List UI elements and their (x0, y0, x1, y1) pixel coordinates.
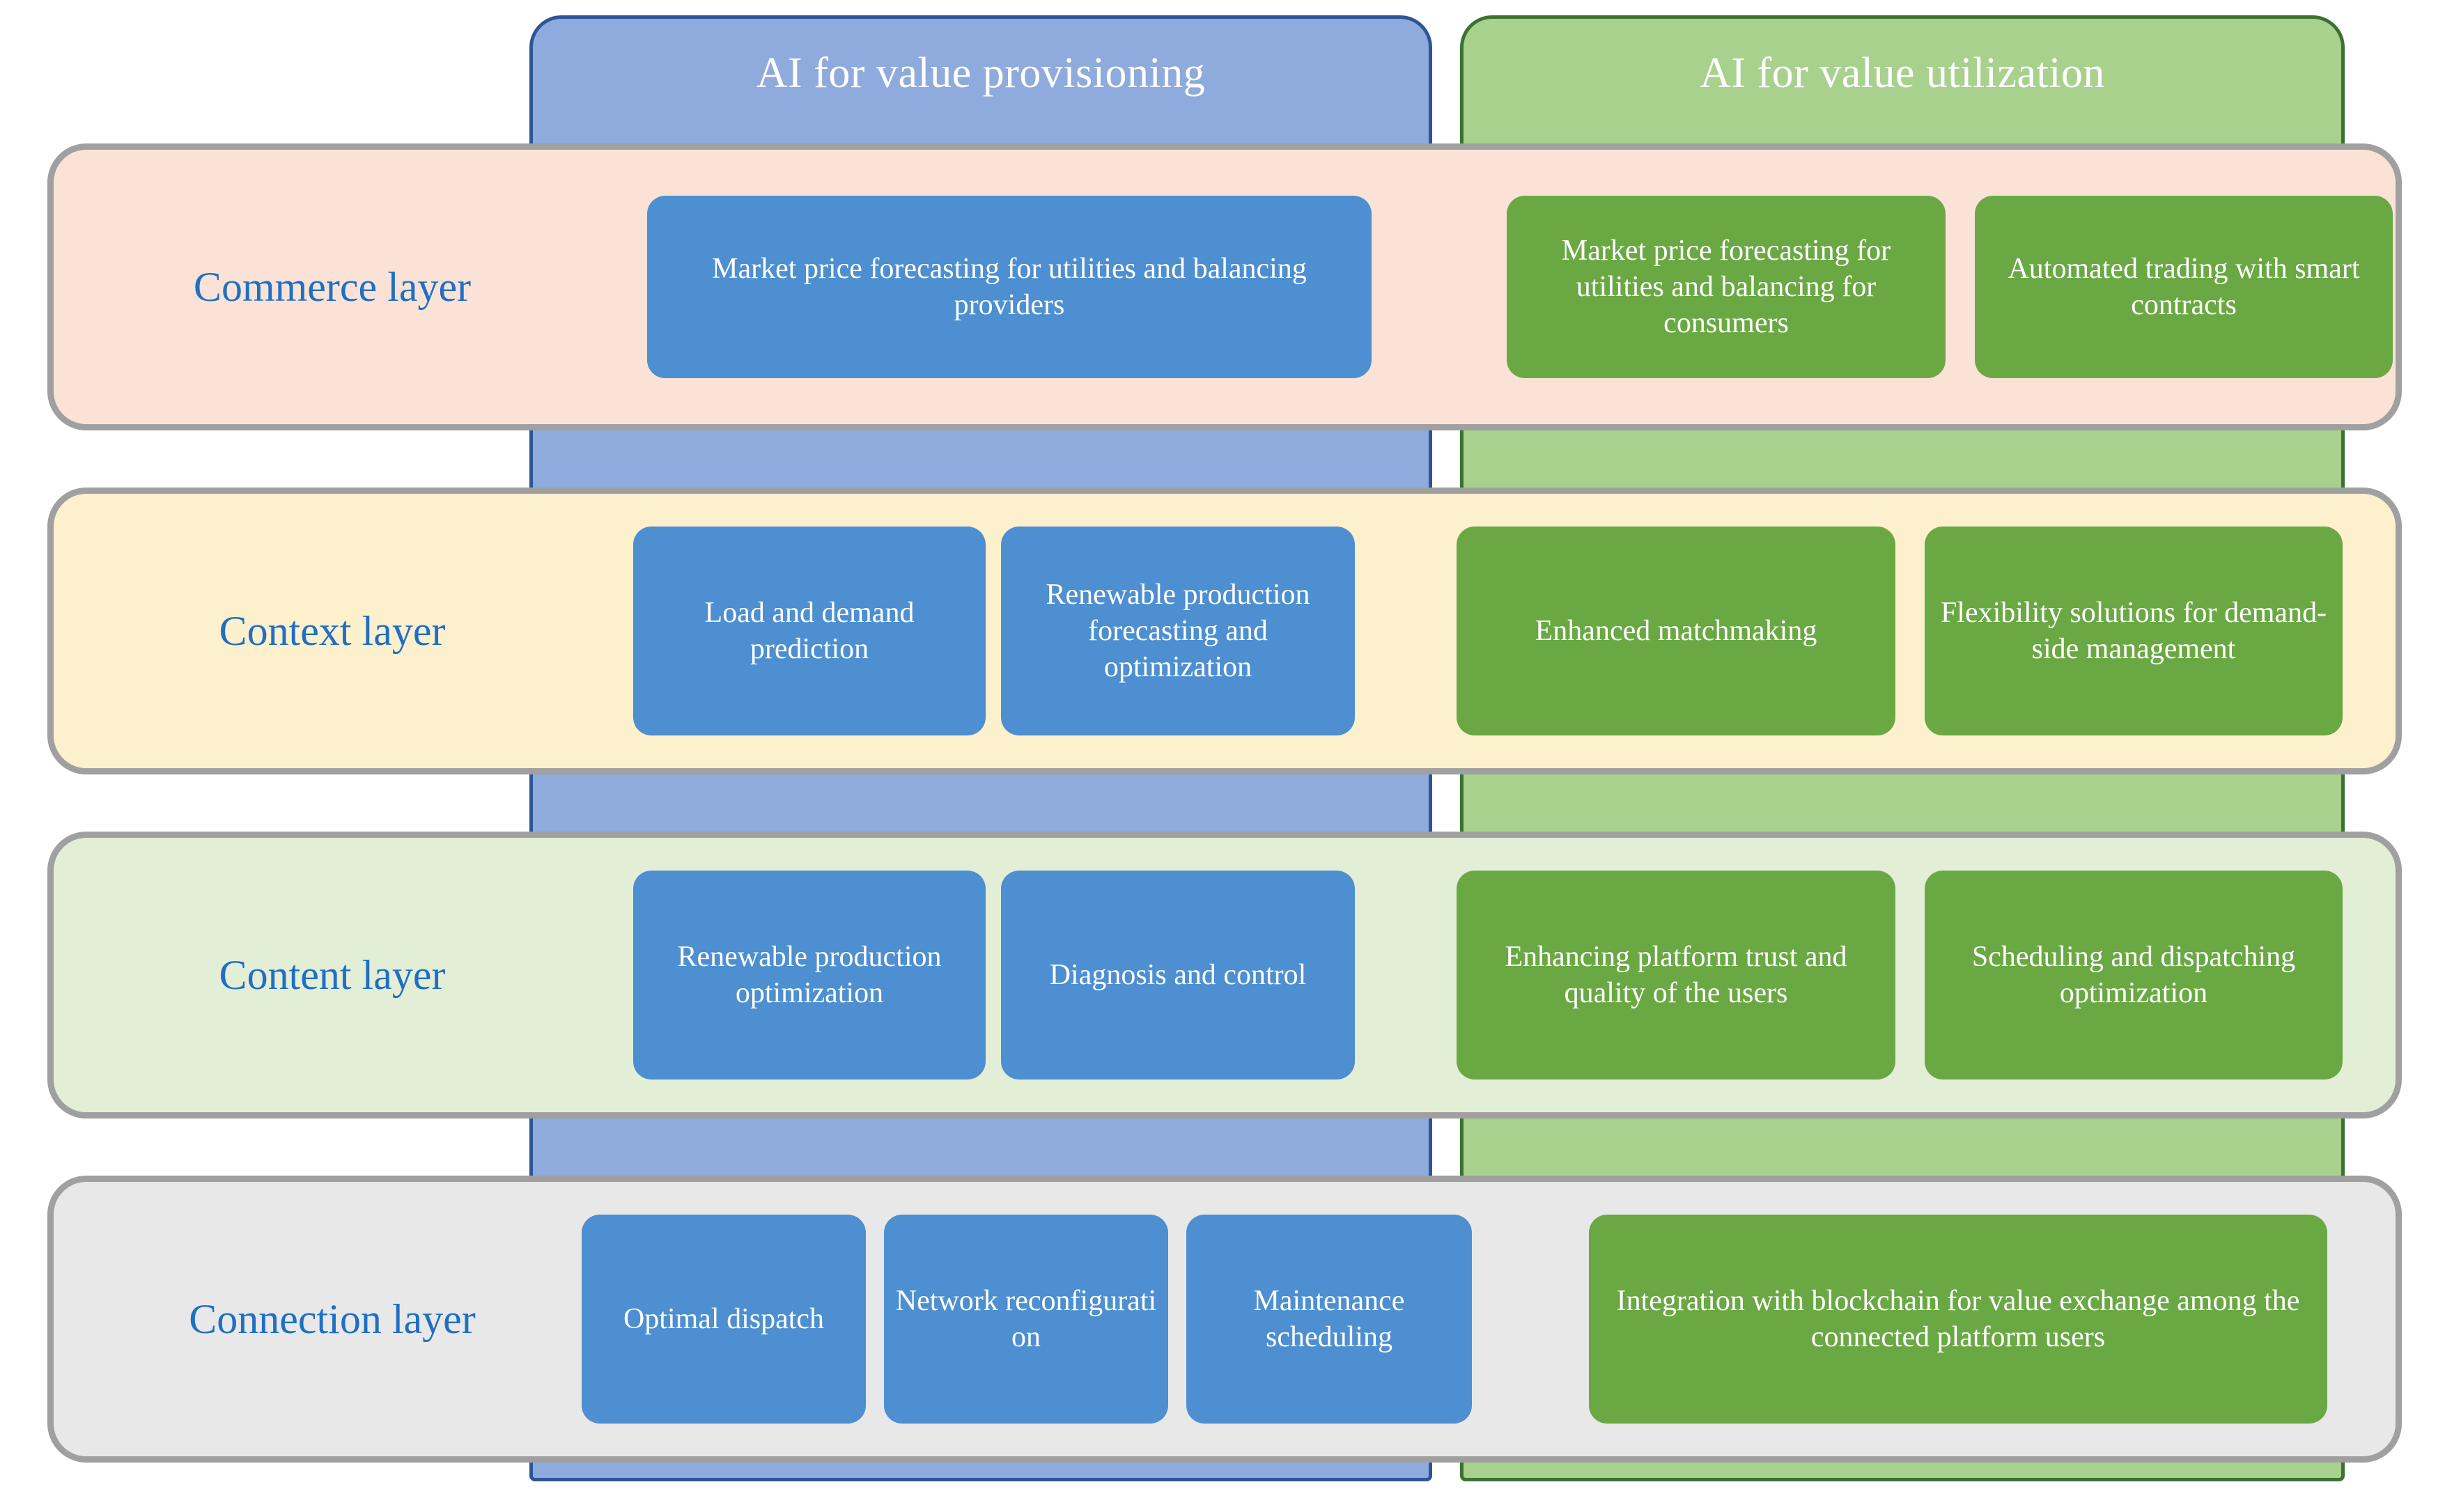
box-optimal-dispatch[interactable]: Optimal dispatch (582, 1215, 866, 1424)
layer-label-content: Content layer (102, 952, 562, 998)
box-market-price-forecasting-consumers[interactable]: Market price forecasting for utilities a… (1507, 196, 1946, 378)
layer-context: Context layer Load and demand prediction… (47, 488, 2402, 774)
column-title-ai-value-provisioning: AI for value provisioning (533, 49, 1429, 97)
layer-commerce-boxes: Market price forecasting for utilities a… (541, 150, 2389, 424)
box-load-and-demand-prediction[interactable]: Load and demand prediction (633, 527, 986, 735)
box-scheduling-dispatching-optimization[interactable]: Scheduling and dispatching optimization (1925, 871, 2343, 1080)
layer-label-context: Context layer (102, 608, 562, 654)
box-market-price-forecasting-providers[interactable]: Market price forecasting for utilities a… (647, 196, 1372, 378)
column-title-ai-value-utilization: AI for value utilization (1464, 49, 2341, 97)
content-provisioning-slot: Renewable production optimization Diagno… (633, 838, 1355, 1112)
layer-label-connection: Connection layer (102, 1296, 562, 1342)
box-enhanced-matchmaking[interactable]: Enhanced matchmaking (1457, 527, 1895, 735)
connection-provisioning-slot: Optimal dispatch Network reconfigurati o… (582, 1182, 1472, 1456)
layer-connection: Connection layer Optimal dispatch Networ… (47, 1176, 2402, 1463)
box-flexibility-solutions-demand-side[interactable]: Flexibility solutions for demand-side ma… (1925, 527, 2343, 735)
box-automated-trading-smart-contracts[interactable]: Automated trading with smart contracts (1975, 196, 2393, 378)
context-provisioning-slot: Load and demand prediction Renewable pro… (633, 494, 1355, 768)
content-utilization-slot: Enhancing platform trust and quality of … (1457, 838, 2343, 1112)
box-network-reconfiguration[interactable]: Network reconfigurati on (884, 1215, 1168, 1424)
diagram-canvas: AI for value provisioning AI for value u… (0, 0, 2445, 1512)
box-renewable-production-forecasting-optimization[interactable]: Renewable production forecasting and opt… (1001, 527, 1355, 735)
box-diagnosis-and-control[interactable]: Diagnosis and control (1001, 871, 1355, 1080)
box-integration-with-blockchain[interactable]: Integration with blockchain for value ex… (1589, 1215, 2327, 1424)
layer-commerce: Commerce layer Market price forecasting … (47, 143, 2402, 430)
context-utilization-slot: Enhanced matchmaking Flexibility solutio… (1457, 494, 2343, 768)
box-maintenance-scheduling[interactable]: Maintenance scheduling (1186, 1215, 1472, 1424)
connection-utilization-slot: Integration with blockchain for value ex… (1589, 1182, 2327, 1456)
commerce-utilization-slot: Market price forecasting for utilities a… (1507, 150, 2393, 424)
layer-content: Content layer Renewable production optim… (47, 832, 2402, 1119)
layer-label-commerce: Commerce layer (102, 264, 562, 310)
commerce-provisioning-slot: Market price forecasting for utilities a… (647, 150, 1372, 424)
layer-context-boxes: Load and demand prediction Renewable pro… (541, 494, 2389, 768)
box-renewable-production-optimization[interactable]: Renewable production optimization (633, 871, 986, 1080)
layer-content-boxes: Renewable production optimization Diagno… (541, 838, 2389, 1112)
layer-connection-boxes: Optimal dispatch Network reconfigurati o… (541, 1182, 2389, 1456)
box-enhancing-platform-trust[interactable]: Enhancing platform trust and quality of … (1457, 871, 1895, 1080)
